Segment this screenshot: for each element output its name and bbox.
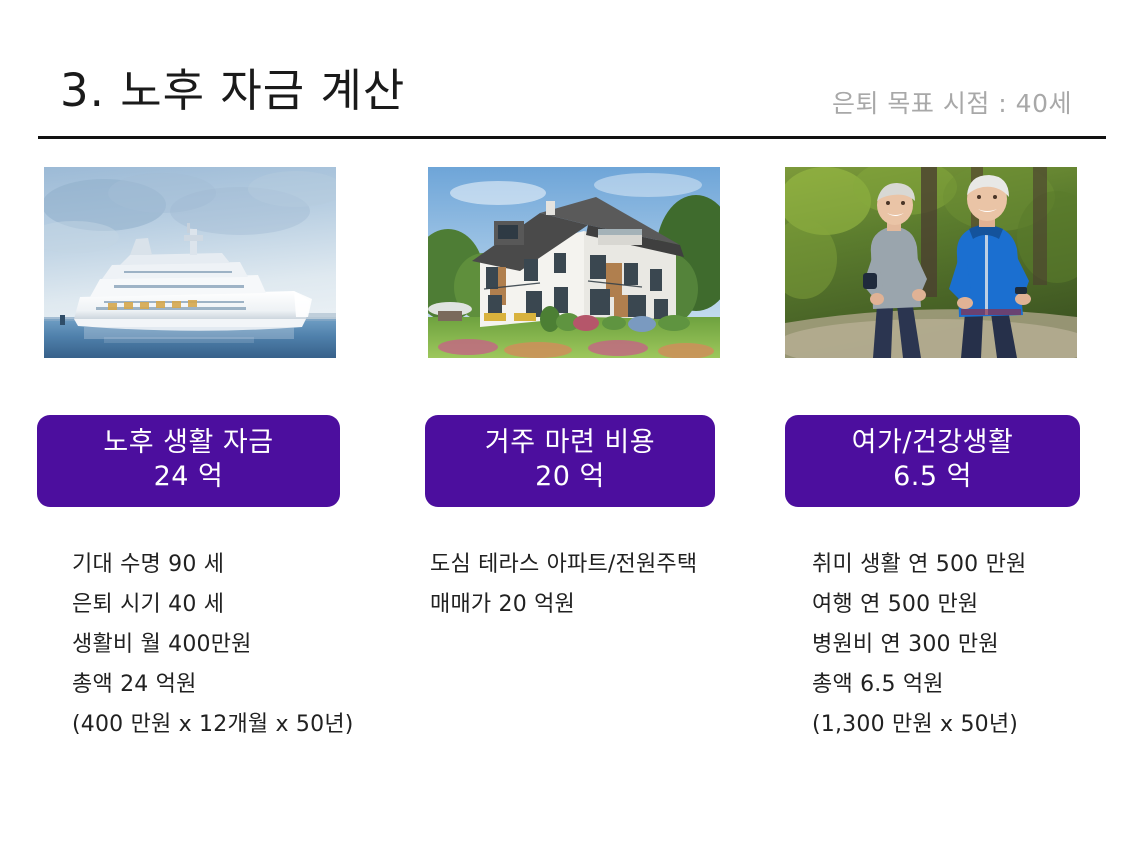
list-item: 은퇴 시기 40 세 — [72, 585, 354, 625]
senior-couple-jogging-photo — [785, 167, 1077, 358]
retirement-target-subtitle: 은퇴 목표 시점 : 40세 — [832, 88, 1072, 120]
list-item: 총액 24 억원 — [72, 665, 354, 705]
list-item: 취미 생활 연 500 만원 — [812, 545, 1026, 585]
list-item: 총액 6.5 억원 — [812, 665, 1026, 705]
category-box-leisure-health: 여가/건강생활 6.5 억 — [785, 415, 1080, 507]
house-photo — [428, 167, 720, 358]
cruise-ship-photo — [44, 167, 336, 358]
detail-list-housing-cost: 도심 테라스 아파트/전원주택 매매가 20 억원 — [430, 545, 697, 625]
category-amount: 24 억 — [154, 460, 224, 494]
category-title: 여가/건강생활 — [852, 426, 1014, 460]
title-divider — [38, 136, 1106, 139]
list-item: 도심 테라스 아파트/전원주택 — [430, 545, 697, 585]
category-box-retirement-living: 노후 생활 자금 24 억 — [37, 415, 340, 507]
content-columns: 노후 생활 자금 24 억 기대 수명 90 세 은퇴 시기 40 세 생활비 … — [0, 160, 1140, 780]
list-item: 생활비 월 400만원 — [72, 625, 354, 665]
category-box-housing-cost: 거주 마련 비용 20 억 — [425, 415, 715, 507]
list-item: (400 만원 x 12개월 x 50년) — [72, 705, 354, 745]
list-item: 여행 연 500 만원 — [812, 585, 1026, 625]
slide-header: 3. 노후 자금 계산 은퇴 목표 시점 : 40세 — [0, 0, 1140, 145]
list-item: (1,300 만원 x 50년) — [812, 705, 1026, 745]
category-amount: 20 억 — [535, 460, 605, 494]
list-item: 매매가 20 억원 — [430, 585, 697, 625]
page-title: 3. 노후 자금 계산 — [60, 63, 405, 119]
list-item: 병원비 연 300 만원 — [812, 625, 1026, 665]
list-item: 기대 수명 90 세 — [72, 545, 354, 585]
category-title: 노후 생활 자금 — [103, 426, 273, 460]
detail-list-retirement-living: 기대 수명 90 세 은퇴 시기 40 세 생활비 월 400만원 총액 24 … — [72, 545, 354, 745]
category-amount: 6.5 억 — [893, 460, 972, 494]
category-title: 거주 마련 비용 — [485, 426, 655, 460]
detail-list-leisure-health: 취미 생활 연 500 만원 여행 연 500 만원 병원비 연 300 만원 … — [812, 545, 1026, 745]
